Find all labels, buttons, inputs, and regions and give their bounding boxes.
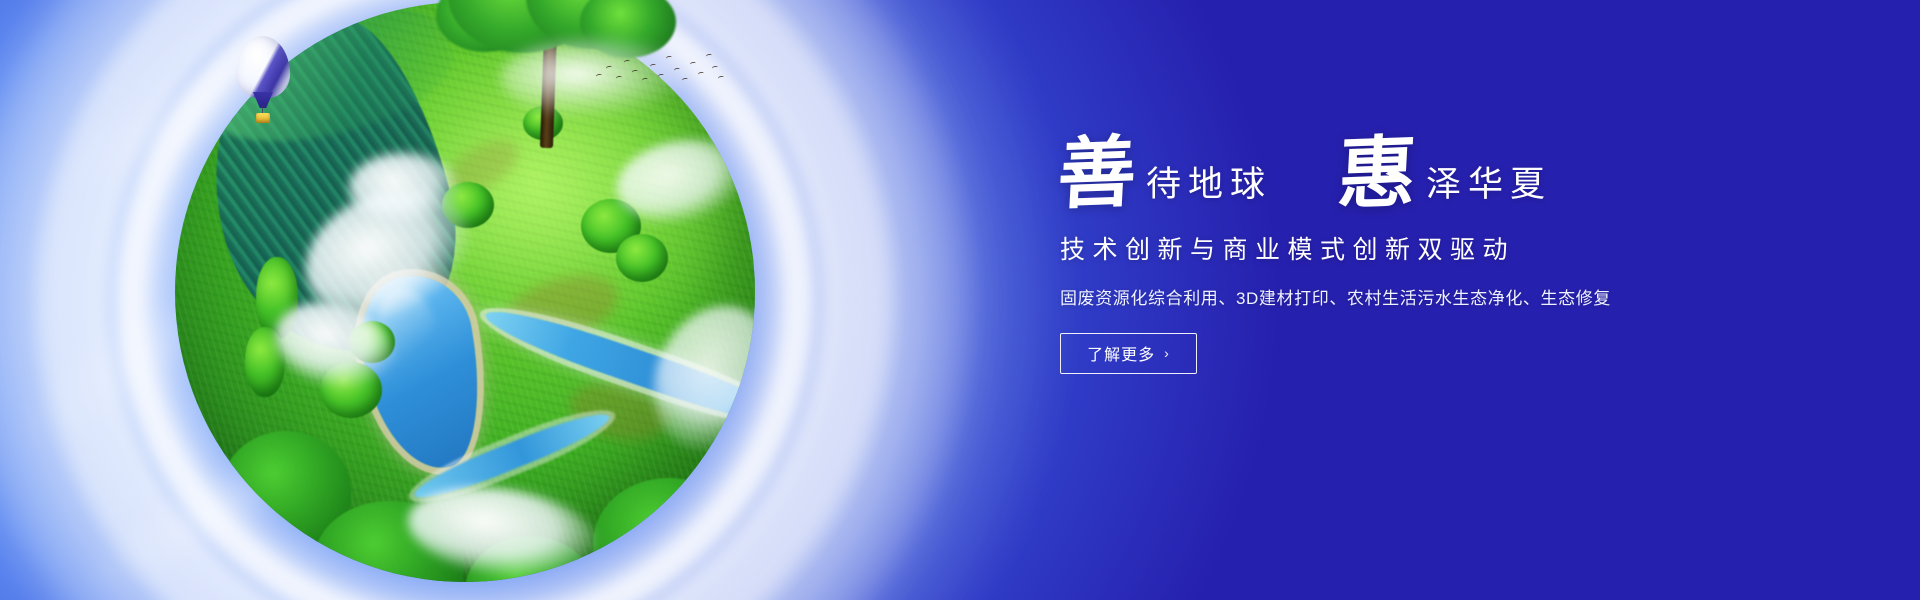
balloon-skirt [253,92,273,108]
hero-description: 固废资源化综合利用、3D建材打印、农村生活污水生态净化、生态修复 [1060,284,1758,309]
hero-copy-block: 善 待地球 惠 泽华夏 技术创新与商业模式创新双驱动 固废资源化综合利用、3D建… [1058,138,1758,374]
page-title: 善 待地球 惠 泽华夏 [1058,138,1758,210]
headline-small-text-1: 待地球 [1146,167,1272,202]
balloon-envelope [236,36,290,98]
hero-subtitle: 技术创新与商业模式创新双驱动 [1060,230,1758,266]
bird-flock-icon [594,48,724,90]
headline-small-text-2: 泽华夏 [1426,167,1552,202]
balloon-basket [256,113,270,123]
shrub [616,234,668,282]
learn-more-label: 了解更多 [1087,341,1155,365]
headline-group-1: 善 待地球 [1058,138,1272,210]
chevron-right-icon: › [1164,346,1170,360]
surface-cloud [349,153,459,223]
headline-group-2: 惠 泽华夏 [1338,138,1552,210]
headline-big-char-2: 惠 [1336,137,1418,211]
hero-banner: 善 待地球 惠 泽华夏 技术创新与商业模式创新双驱动 固废资源化综合利用、3D建… [0,0,1920,600]
learn-more-button[interactable]: 了解更多 › [1060,333,1197,374]
hot-air-balloon-icon [236,36,294,128]
headline-big-char-1: 善 [1056,137,1138,211]
